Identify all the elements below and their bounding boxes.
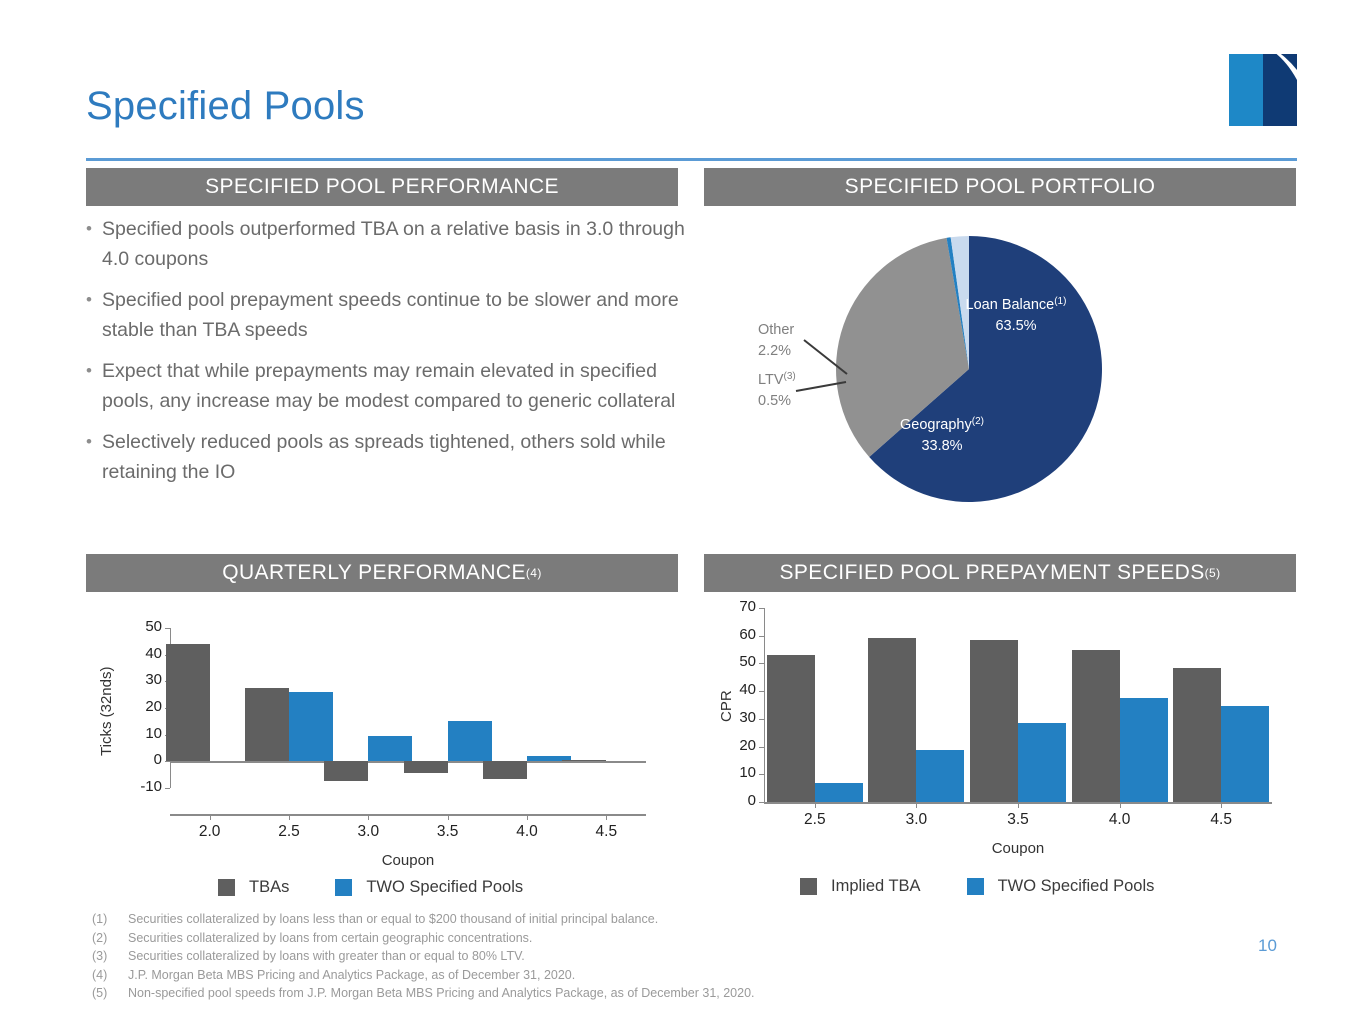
y-axis-line <box>764 608 765 802</box>
pie-value-other: 2.2% <box>758 343 791 359</box>
x-axis-tick: 3.0 <box>876 811 956 829</box>
y-axis-tick: 10 <box>116 725 162 742</box>
x-axis-tickmark <box>527 814 528 820</box>
bar-tbas-4.5 <box>562 760 606 761</box>
y-axis-tick: 20 <box>710 737 756 754</box>
bar-implied-tba-4.5 <box>1173 668 1221 802</box>
footnote-number: (2) <box>92 929 128 948</box>
footnote-number: (3) <box>92 947 128 966</box>
bar-two-specified-pools-3.0 <box>916 750 964 802</box>
legend-swatch-two-specified-pools-2 <box>967 878 984 895</box>
pie-chart: Loan Balance(1)63.5%Geography(2)33.8%Oth… <box>704 214 1296 544</box>
y-axis-tick: 0 <box>116 751 162 768</box>
panel-header-speeds: SPECIFIED POOL PREPAYMENT SPEEDS(5) <box>704 554 1296 592</box>
bullet-item: •Specified pools outperformed TBA on a r… <box>86 214 686 274</box>
legend-label-two-specified-pools-2: TWO Specified Pools <box>998 877 1155 896</box>
bar-two-specified-pools-2.5 <box>815 783 863 802</box>
x-axis-tick: 3.5 <box>978 811 1058 829</box>
x-axis-tickmark <box>448 814 449 820</box>
logo-swoosh-shape <box>1235 54 1297 126</box>
y-axis-tick: 50 <box>116 618 162 635</box>
bullet-text: Expect that while prepayments may remain… <box>102 356 686 416</box>
legend-quarterly: TBAs TWO Specified Pools <box>218 878 523 897</box>
x-axis-tickmark <box>1018 802 1019 808</box>
footnote-item: (3)Securities collateralized by loans wi… <box>92 947 992 966</box>
footnotes: (1)Securities collateralized by loans le… <box>92 910 992 1003</box>
bar-two-specified-pools-3.0 <box>368 736 412 761</box>
bar-tbas-3.0 <box>324 761 368 781</box>
bullet-text: Specified pools outperformed TBA on a re… <box>102 214 686 274</box>
x-axis-tick: 4.0 <box>487 823 567 841</box>
x-axis-title: Coupon <box>368 852 448 869</box>
pie-label-other: Other <box>758 322 794 338</box>
panel-header-speeds-sup: (5) <box>1205 566 1221 580</box>
panel-header-quarterly-sup: (4) <box>526 566 542 580</box>
pie-label-loan-balance: Loan Balance(1) <box>966 296 1067 313</box>
y-axis-tick: 40 <box>116 645 162 662</box>
pie-label-ltv: LTV(3) <box>758 371 796 388</box>
x-axis-tick: 4.5 <box>566 823 646 841</box>
x-axis-title: Coupon <box>978 840 1058 857</box>
bar-two-specified-pools-3.5 <box>448 721 492 761</box>
legend-speeds: Implied TBA TWO Specified Pools <box>800 877 1154 896</box>
page-title: Specified Pools <box>86 84 365 129</box>
bar-two-specified-pools-3.5 <box>1018 723 1066 802</box>
y-axis-tick: -10 <box>116 778 162 795</box>
x-axis-line <box>170 814 646 816</box>
footnote-number: (1) <box>92 910 128 929</box>
x-axis-tick: 2.5 <box>249 823 329 841</box>
bullet-marker-icon: • <box>86 285 102 345</box>
bar-two-specified-pools-4.0 <box>1120 698 1168 802</box>
x-axis-tickmark <box>210 814 211 820</box>
bar-implied-tba-3.5 <box>970 640 1018 802</box>
footnote-text: Non-specified pool speeds from J.P. Morg… <box>128 984 755 1003</box>
legend-label-two-specified-pools: TWO Specified Pools <box>366 878 523 897</box>
legend-swatch-two-specified-pools <box>335 879 352 896</box>
footnote-item: (5)Non-specified pool speeds from J.P. M… <box>92 984 992 1003</box>
footnote-item: (2)Securities collateralized by loans fr… <box>92 929 992 948</box>
bar-implied-tba-4.0 <box>1072 650 1120 802</box>
bullet-marker-icon: • <box>86 214 102 274</box>
company-logo-icon <box>1229 54 1297 126</box>
panel-header-performance-label: SPECIFIED POOL PERFORMANCE <box>205 175 559 199</box>
bar-two-specified-pools-4.5 <box>1221 706 1269 802</box>
bar-tbas-3.5 <box>404 761 448 773</box>
bullet-item: •Specified pool prepayment speeds contin… <box>86 285 686 345</box>
bar-implied-tba-2.5 <box>767 655 815 802</box>
legend-swatch-tbas <box>218 879 235 896</box>
legend-label-tbas: TBAs <box>249 878 289 897</box>
page-number: 10 <box>1258 936 1277 956</box>
panel-header-speeds-label: SPECIFIED POOL PREPAYMENT SPEEDS <box>779 561 1204 585</box>
y-axis-tick: 60 <box>710 626 756 643</box>
panel-header-quarterly-label: QUARTERLY PERFORMANCE <box>222 561 526 585</box>
bar-tbas-2.0 <box>166 644 210 761</box>
x-axis-tickmark <box>916 802 917 808</box>
y-axis-tick: 0 <box>710 792 756 809</box>
quarterly-performance-chart: 50403020100-102.02.53.03.54.04.5CouponTi… <box>86 596 678 866</box>
bar-implied-tba-3.0 <box>868 638 916 802</box>
x-axis-tick: 4.5 <box>1181 811 1261 829</box>
legend-label-implied-tba: Implied TBA <box>831 877 921 896</box>
y-axis-tick: 10 <box>710 764 756 781</box>
y-axis-tick: 30 <box>116 671 162 688</box>
x-axis-tick: 4.0 <box>1080 811 1160 829</box>
legend-swatch-implied-tba <box>800 878 817 895</box>
bullet-text: Specified pool prepayment speeds continu… <box>102 285 686 345</box>
title-divider <box>86 158 1297 161</box>
prepayment-speeds-chart: 7060504030201002.53.03.54.04.5CouponCPR <box>704 596 1296 866</box>
y-axis-tick: 70 <box>710 598 756 615</box>
pie-value-loan-balance: 63.5% <box>995 318 1036 334</box>
bullet-marker-icon: • <box>86 356 102 416</box>
pie-chart-svg: Loan Balance(1)63.5%Geography(2)33.8%Oth… <box>704 214 1296 544</box>
y-axis-tick: 50 <box>710 653 756 670</box>
x-axis-tickmark <box>1120 802 1121 808</box>
y-axis-tickmark <box>165 788 170 789</box>
panel-header-portfolio-label: SPECIFIED POOL PORTFOLIO <box>845 175 1156 199</box>
y-axis-tick: 20 <box>116 698 162 715</box>
footnote-text: Securities collateralized by loans less … <box>128 910 658 929</box>
bar-two-specified-pools-2.5 <box>289 692 333 761</box>
x-axis-tickmark <box>368 814 369 820</box>
panel-header-performance: SPECIFIED POOL PERFORMANCE <box>86 168 678 206</box>
bullet-item: •Selectively reduced pools as spreads ti… <box>86 427 686 487</box>
bar-tbas-4.0 <box>483 761 527 778</box>
footnote-number: (4) <box>92 966 128 985</box>
x-axis-tickmark <box>1221 802 1222 808</box>
footnote-item: (4)J.P. Morgan Beta MBS Pricing and Anal… <box>92 966 992 985</box>
pie-value-ltv: 0.5% <box>758 393 791 409</box>
x-axis-tickmark <box>289 814 290 820</box>
x-axis-tickmark <box>815 802 816 808</box>
y-axis-title: Ticks (32nds) <box>98 667 115 756</box>
pie-value-geography: 33.8% <box>921 438 962 454</box>
bar-tbas-2.5 <box>245 688 289 761</box>
footnote-text: Securities collateralized by loans from … <box>128 929 532 948</box>
bullet-text: Selectively reduced pools as spreads tig… <box>102 427 686 487</box>
panel-header-quarterly: QUARTERLY PERFORMANCE(4) <box>86 554 678 592</box>
x-axis-tickmark <box>606 814 607 820</box>
bullet-item: •Expect that while prepayments may remai… <box>86 356 686 416</box>
footnote-item: (1)Securities collateralized by loans le… <box>92 910 992 929</box>
x-axis-tick: 3.5 <box>408 823 488 841</box>
x-axis-tick: 2.5 <box>775 811 855 829</box>
bullet-list: •Specified pools outperformed TBA on a r… <box>86 214 686 498</box>
y-axis-title: CPR <box>718 690 735 722</box>
footnote-number: (5) <box>92 984 128 1003</box>
x-axis-tick: 2.0 <box>170 823 250 841</box>
footnote-text: J.P. Morgan Beta MBS Pricing and Analyti… <box>128 966 575 985</box>
x-axis-tick: 3.0 <box>328 823 408 841</box>
bullet-marker-icon: • <box>86 427 102 487</box>
panel-header-portfolio: SPECIFIED POOL PORTFOLIO <box>704 168 1296 206</box>
footnote-text: Securities collateralized by loans with … <box>128 947 525 966</box>
pie-label-geography: Geography(2) <box>900 416 984 433</box>
